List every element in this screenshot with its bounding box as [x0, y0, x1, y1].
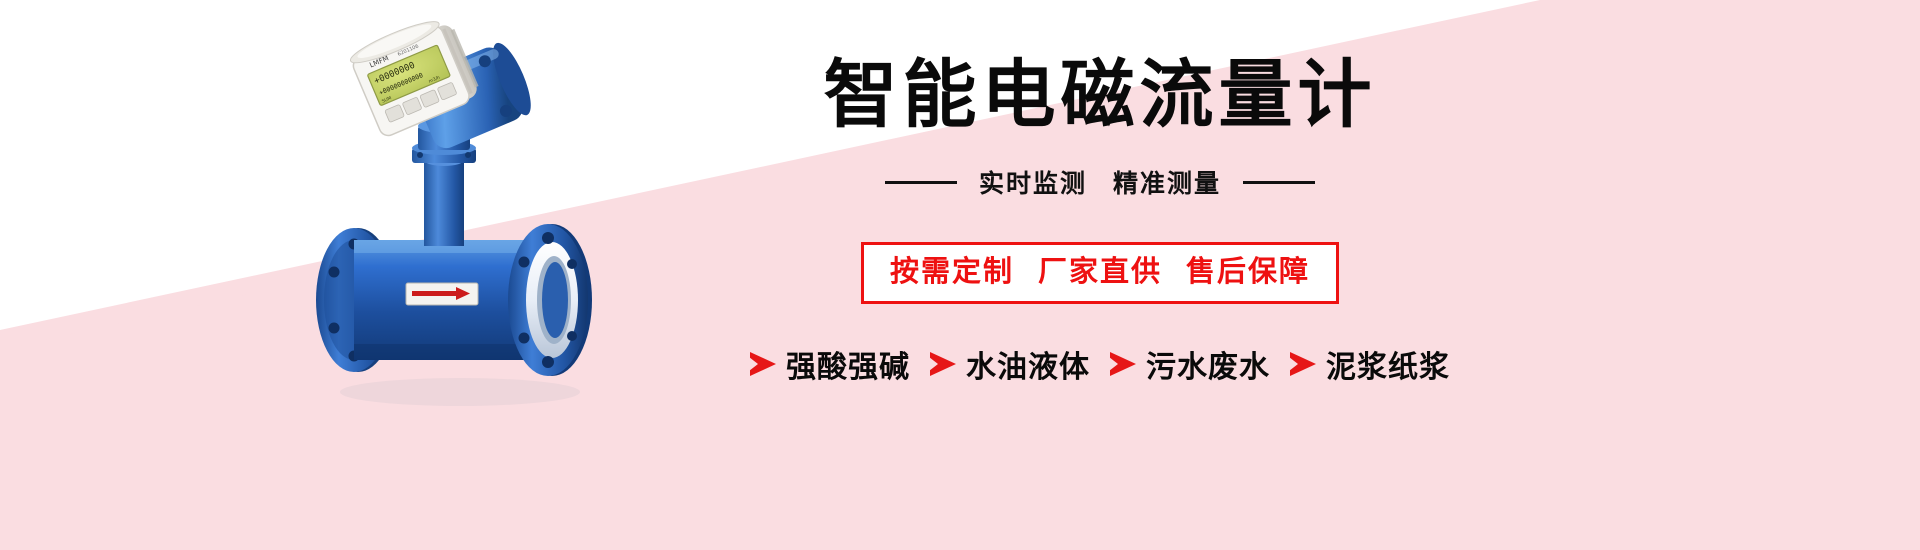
promo-badge[interactable]: 按需定制厂家直供售后保障	[861, 242, 1339, 304]
product-banner: LMFM 6201106 +0000000 +00000000000 SUM m…	[0, 0, 1920, 550]
promo-part-3: 售后保障	[1186, 254, 1310, 288]
subtitle-text: 实时监测精准测量	[979, 164, 1221, 200]
subtitle-part-1: 实时监测	[979, 169, 1087, 198]
triangle-right-icon	[750, 352, 776, 376]
triangle-right-icon	[930, 352, 956, 376]
flow-direction-arrow-icon	[406, 283, 478, 305]
feature-label: 泥浆纸浆	[1326, 342, 1450, 386]
triangle-right-icon	[1290, 352, 1316, 376]
page-title: 智能电磁流量计	[600, 58, 1600, 132]
banner-text-block: 智能电磁流量计 实时监测精准测量 按需定制厂家直供售后保障 强酸强碱 水油液体 …	[600, 30, 1600, 450]
promo-part-1: 按需定制	[890, 254, 1014, 288]
promo-text: 按需定制厂家直供售后保障	[890, 254, 1310, 288]
feature-label: 污水废水	[1146, 342, 1270, 386]
feature-item-2: 污水废水	[1110, 342, 1270, 386]
feature-label: 强酸强碱	[786, 342, 910, 386]
feature-row: 强酸强碱 水油液体 污水废水 泥浆纸浆	[600, 342, 1600, 386]
promo-box-wrapper: 按需定制厂家直供售后保障	[600, 200, 1600, 304]
feature-item-0: 强酸强碱	[750, 342, 910, 386]
subtitle-row: 实时监测精准测量	[600, 164, 1600, 200]
subtitle-part-2: 精准测量	[1113, 169, 1221, 198]
feature-item-3: 泥浆纸浆	[1290, 342, 1450, 386]
triangle-right-icon	[1110, 352, 1136, 376]
right-flange	[508, 224, 592, 376]
subtitle-rule-right	[1243, 181, 1315, 184]
subtitle-rule-left	[885, 181, 957, 184]
promo-part-2: 厂家直供	[1038, 254, 1162, 288]
feature-item-1: 水油液体	[930, 342, 1090, 386]
feature-label: 水油液体	[966, 342, 1090, 386]
